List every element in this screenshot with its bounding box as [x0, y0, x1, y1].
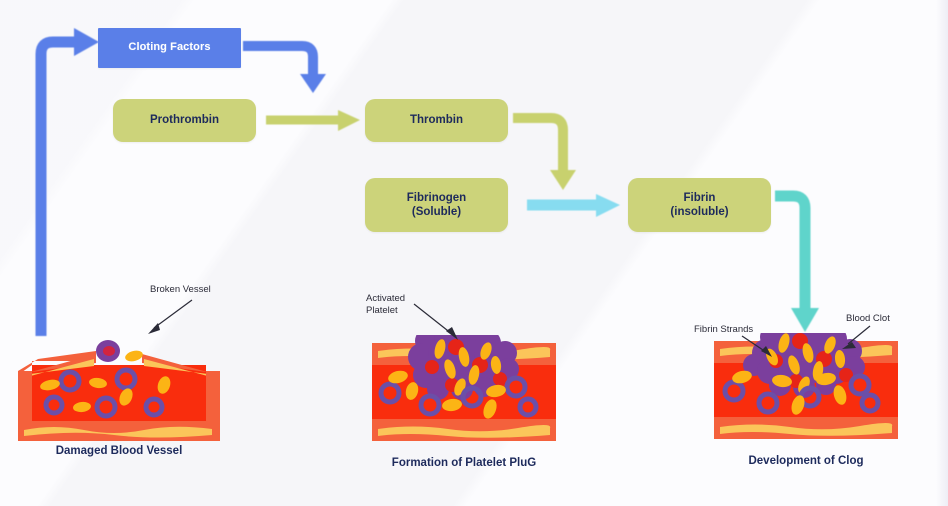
panel-platelet-plug: Formation of Platelet PluG [368, 335, 560, 455]
node-label: Prothrombin [150, 113, 219, 127]
diagram-canvas: Cloting Factors Prothrombin Thrombin Fib… [0, 0, 948, 506]
node-fibrinogen[interactable]: Fibrinogen (Soluble) [365, 178, 508, 232]
panel-caption: Damaged Blood Vessel [14, 445, 224, 457]
panel-caption: Development of Clog [710, 455, 902, 467]
arrow-prothrombin-to-thrombin [266, 110, 360, 131]
node-label: Fibrin (insoluble) [670, 191, 728, 219]
annotation-broken-vessel: Broken Vessel [150, 284, 211, 296]
annotation-leader-broken-vessel [140, 296, 200, 338]
node-thrombin[interactable]: Thrombin [365, 99, 508, 142]
node-prothrombin[interactable]: Prothrombin [113, 99, 256, 142]
arrow-clotting-to-thrombin [243, 46, 326, 93]
arrow-thrombin-to-fibrin-reaction [513, 118, 576, 190]
node-label: Thrombin [410, 113, 463, 127]
node-fibrin[interactable]: Fibrin (insoluble) [628, 178, 771, 232]
panel-caption: Formation of Platelet PluG [368, 457, 560, 469]
panel-damaged-blood-vessel: Damaged Blood Vessel [14, 325, 224, 455]
arrow-fibrinogen-to-fibrin [527, 194, 620, 217]
annotation-leader-blood-clot [838, 322, 878, 352]
platelet-plug-illustration [368, 335, 560, 447]
annotation-leader-activated-platelet [408, 300, 468, 344]
annotation-leader-fibrin-strands [736, 332, 780, 360]
node-label: Fibrinogen (Soluble) [407, 191, 466, 219]
annotation-activated-platelet: Activated Platelet [366, 293, 405, 317]
damaged-vessel-illustration [14, 325, 224, 443]
node-label: Cloting Factors [128, 41, 210, 54]
node-clotting-factors[interactable]: Cloting Factors [98, 28, 241, 68]
arrow-fibrin-to-clot [775, 196, 819, 332]
arrow-feedback-loop [41, 28, 99, 336]
